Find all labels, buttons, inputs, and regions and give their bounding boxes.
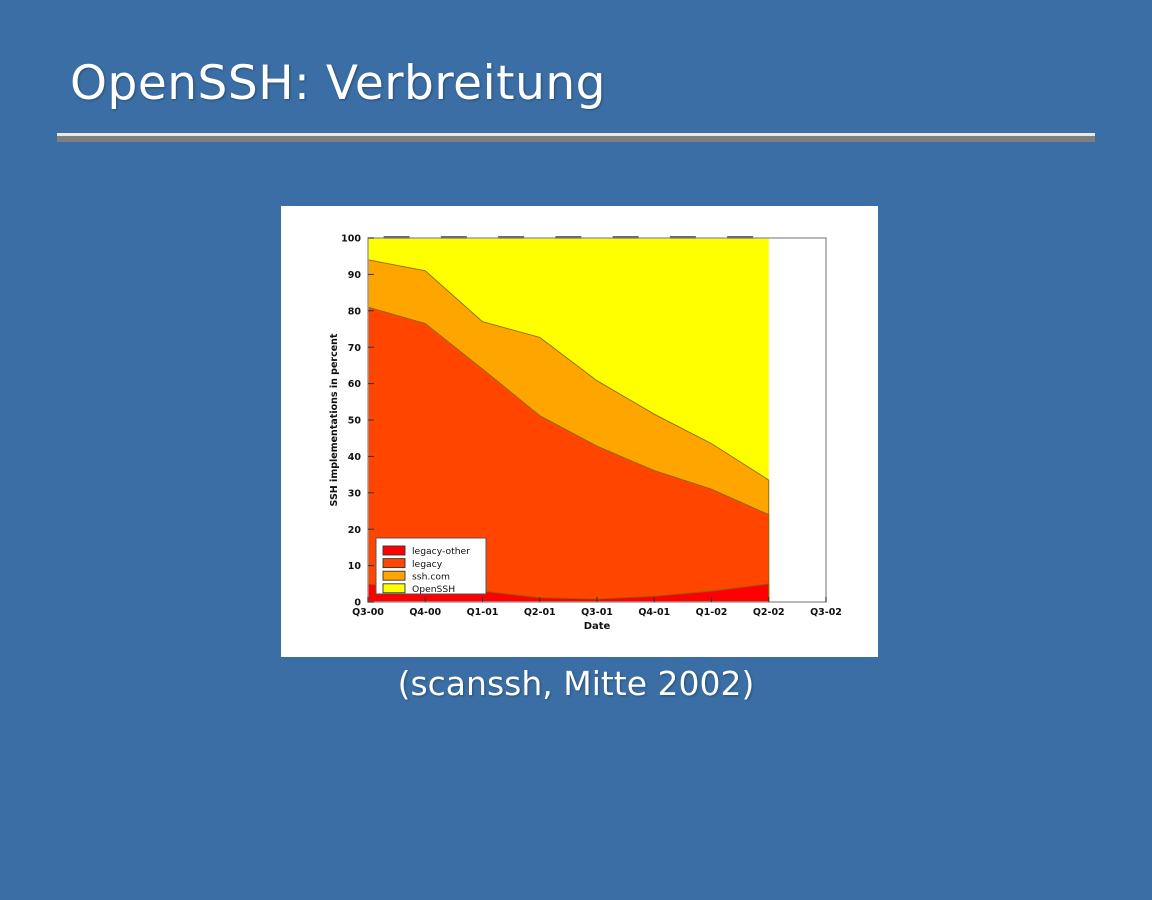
chart-caption: (scanssh, Mitte 2002) [0, 664, 1152, 703]
y-axis-tick-label: 50 [348, 416, 362, 427]
y-axis-tick-label: 20 [348, 525, 362, 536]
legend-swatch-legacy-other [383, 546, 405, 555]
y-axis-tick-label: 40 [348, 452, 362, 463]
x-axis-tick-label: Q3-02 [810, 607, 842, 618]
x-axis-title: Date [584, 621, 611, 632]
x-axis-tick-label: Q2-02 [753, 607, 785, 618]
slide-root: OpenSSH: Verbreitung 0102030405060708090… [0, 0, 1152, 900]
legend-swatch-legacy [383, 559, 405, 568]
x-axis-tick-label: Q2-01 [524, 607, 556, 618]
x-axis-tick-label: Q4-01 [638, 607, 670, 618]
y-axis-title: SSH implementations in percent [329, 333, 340, 506]
legend-label-legacy-other: legacy-other [412, 546, 470, 557]
page-title: OpenSSH: Verbreitung [70, 60, 606, 107]
y-axis-tick-label: 60 [348, 379, 362, 390]
x-axis-tick-label: Q3-01 [581, 607, 613, 618]
x-axis-tick-label: Q4-00 [409, 607, 441, 618]
title-rule-shadow [57, 136, 1095, 142]
chart-svg: 0102030405060708090100Q3-00Q4-00Q1-01Q2-… [281, 206, 878, 657]
legend-label-openssh: OpenSSH [412, 584, 455, 595]
legend-swatch-openssh [383, 584, 405, 593]
y-axis-tick-label: 80 [348, 306, 362, 317]
y-axis-tick-label: 10 [348, 561, 362, 572]
legend-label-ssh-com: ssh.com [412, 571, 450, 582]
y-axis-tick-label: 70 [348, 343, 362, 354]
chart-card: 0102030405060708090100Q3-00Q4-00Q1-01Q2-… [281, 206, 878, 657]
y-axis-tick-label: 30 [348, 488, 362, 499]
legend-label-legacy: legacy [412, 559, 443, 570]
y-axis-tick-label: 100 [341, 234, 361, 245]
x-axis-tick-label: Q3-00 [352, 607, 384, 618]
x-axis-tick-label: Q1-02 [696, 607, 728, 618]
legend-swatch-ssh-com [383, 571, 405, 580]
stacked-area-chart: 0102030405060708090100Q3-00Q4-00Q1-01Q2-… [281, 206, 878, 657]
title-underline-rule [57, 133, 1095, 142]
x-axis-tick-label: Q1-01 [467, 607, 499, 618]
y-axis-tick-label: 90 [348, 270, 362, 281]
